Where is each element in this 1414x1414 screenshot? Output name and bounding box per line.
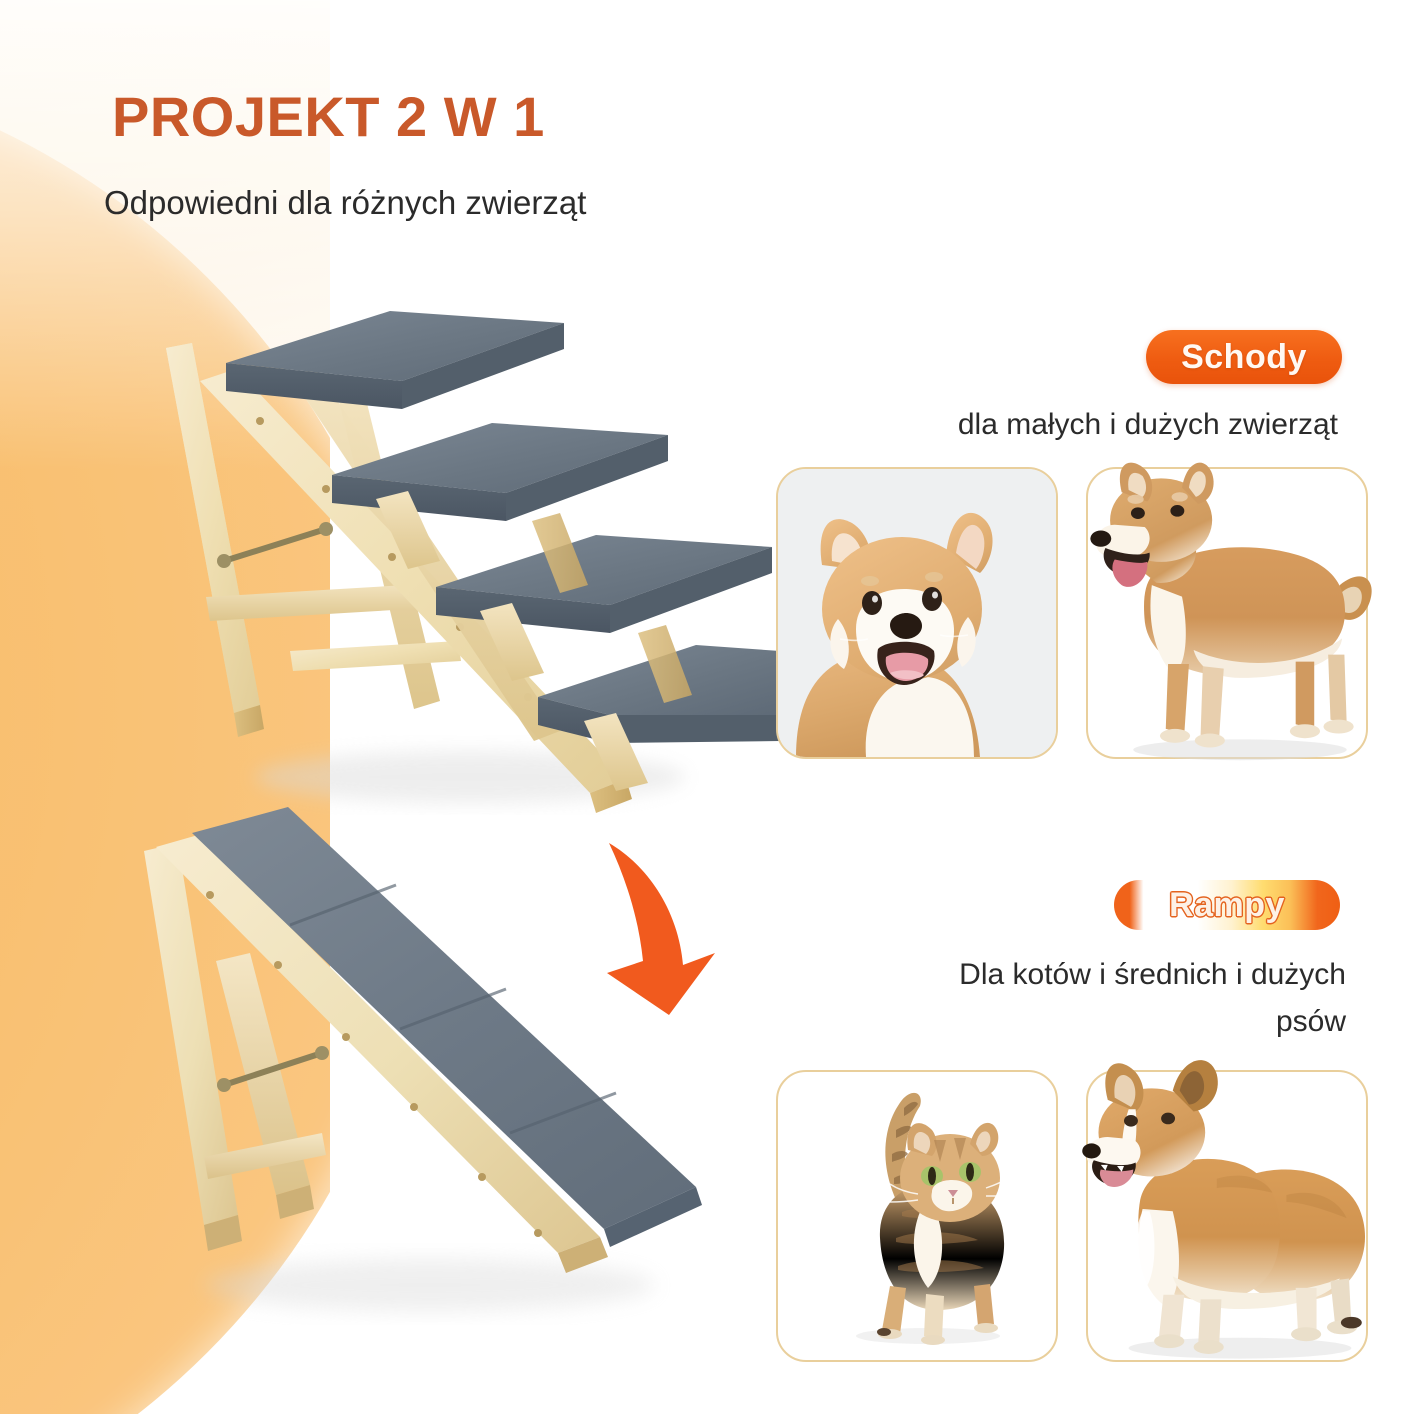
badge-rampy[interactable]: Rampy bbox=[1114, 880, 1340, 930]
shiba-adult-card[interactable] bbox=[1086, 467, 1368, 759]
ramps-badge-row: Rampy bbox=[760, 880, 1380, 938]
shiba-puppy-card[interactable] bbox=[776, 467, 1058, 759]
badge-schody-label: Schody bbox=[1181, 338, 1307, 377]
page-title: PROJEKT 2 W 1 bbox=[112, 84, 545, 149]
infographic-canvas: PROJEKT 2 W 1 Odpowiedni dla różnych zwi… bbox=[0, 0, 1414, 1414]
stairs-card-row bbox=[760, 467, 1380, 759]
corgi-card[interactable] bbox=[1086, 1070, 1368, 1362]
curved-down-arrow-icon bbox=[565, 825, 755, 1020]
product-image-stairs bbox=[140, 285, 780, 815]
stairs-caption: dla małych i dużych zwierząt bbox=[760, 402, 1380, 447]
ramps-caption-line1: Dla kotów i średnich i dużych bbox=[760, 952, 1380, 997]
section-ramps: Rampy Dla kotów i średnich i dużych psów bbox=[760, 880, 1380, 1370]
ramps-card-row bbox=[760, 1070, 1380, 1362]
tabby-cat-card[interactable] bbox=[776, 1070, 1058, 1362]
section-stairs: Schody dla małych i dużych zwierząt bbox=[760, 330, 1380, 800]
badge-rampy-label: Rampy bbox=[1169, 886, 1285, 925]
stairs-badge-row: Schody bbox=[760, 330, 1380, 388]
ramps-caption-line2: psów bbox=[760, 999, 1380, 1044]
page-subtitle: Odpowiedni dla różnych zwierząt bbox=[104, 184, 586, 222]
badge-schody[interactable]: Schody bbox=[1146, 330, 1342, 384]
